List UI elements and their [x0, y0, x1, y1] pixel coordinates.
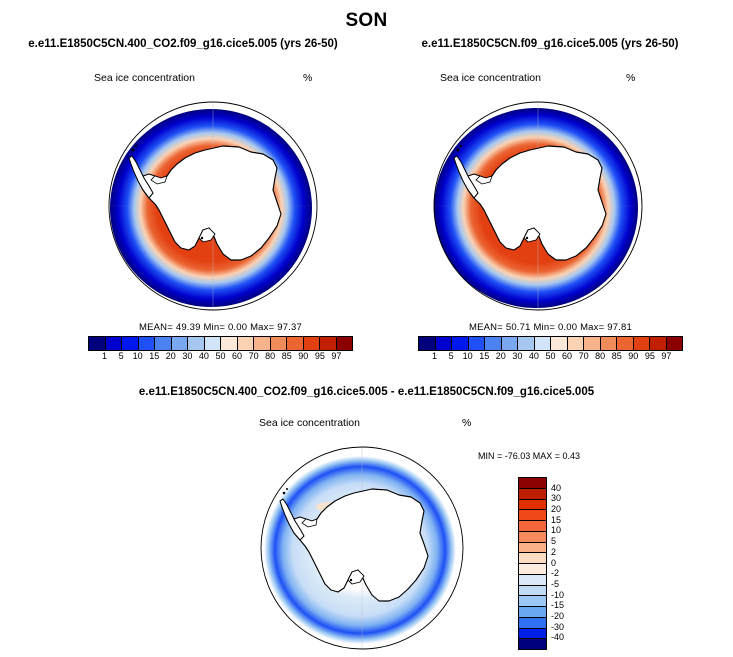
- diff-colorbar-swatch-2: [519, 500, 546, 511]
- colorbar-tick-label: 30: [182, 351, 192, 361]
- colorbar-swatch-2: [452, 337, 469, 350]
- panel-right-variable-label: Sea ice concentration: [440, 72, 541, 84]
- page-title: SON: [0, 10, 733, 32]
- colorbar-difference-swatches: [518, 477, 547, 650]
- colorbar-tick-label: 40: [199, 351, 209, 361]
- diff-colorbar-tick-label: -10: [551, 590, 564, 600]
- panel-difference-units: %: [462, 417, 471, 429]
- diff-colorbar-swatch-8: [519, 564, 546, 575]
- colorbar-right-ticks: 1510152030405060708085909597: [418, 351, 683, 365]
- colorbar-swatch-0: [89, 337, 106, 350]
- colorbar-tick-label: 15: [149, 351, 159, 361]
- colorbar-swatch-12: [617, 337, 634, 350]
- colorbar-swatch-9: [568, 337, 585, 350]
- panel-left-subtitle: e.e11.E1850C5CN.400_CO2.f09_g16.cice5.00…: [0, 38, 366, 50]
- colorbar-swatch-13: [304, 337, 321, 350]
- colorbar-tick-label: 40: [529, 351, 539, 361]
- colorbar-swatch-14: [650, 337, 667, 350]
- colorbar-left[interactable]: 1510152030405060708085909597: [88, 336, 353, 365]
- panel-right: e.e11.E1850C5CN.f09_g16.cice5.005 (yrs 2…: [367, 38, 733, 50]
- diff-colorbar-swatch-5: [519, 532, 546, 543]
- colorbar-swatch-7: [535, 337, 552, 350]
- map-left: [105, 98, 321, 314]
- panel-right-units: %: [626, 72, 635, 84]
- panel-difference: e.e11.E1850C5CN.400_CO2.f09_g16.cice5.00…: [0, 386, 733, 398]
- colorbar-tick-label: 90: [628, 351, 638, 361]
- diff-colorbar-swatch-0: [519, 478, 546, 489]
- colorbar-right-swatches: [418, 336, 683, 351]
- diff-colorbar-tick-label: 40: [551, 483, 561, 493]
- colorbar-tick-label: 50: [215, 351, 225, 361]
- colorbar-tick-label: 85: [282, 351, 292, 361]
- colorbar-tick-label: 70: [249, 351, 259, 361]
- colorbar-tick-label: 70: [579, 351, 589, 361]
- colorbar-swatch-5: [502, 337, 519, 350]
- colorbar-swatch-8: [551, 337, 568, 350]
- diff-colorbar-swatch-3: [519, 510, 546, 521]
- colorbar-swatch-15: [337, 337, 353, 350]
- colorbar-swatch-2: [122, 337, 139, 350]
- colorbar-swatch-4: [155, 337, 172, 350]
- diff-colorbar-swatch-1: [519, 489, 546, 500]
- colorbar-swatch-0: [419, 337, 436, 350]
- diff-colorbar-tick-label: -5: [551, 579, 559, 589]
- colorbar-swatch-12: [287, 337, 304, 350]
- colorbar-tick-label: 5: [449, 351, 454, 361]
- panel-right-stats: MEAN= 50.71 Min= 0.00 Max= 97.81: [418, 322, 683, 333]
- colorbar-tick-label: 15: [479, 351, 489, 361]
- diff-colorbar-swatch-12: [519, 607, 546, 618]
- colorbar-left-swatches: [88, 336, 353, 351]
- colorbar-tick-label: 20: [166, 351, 176, 361]
- panel-difference-stats: MIN = -76.03 MAX = 0.43: [478, 451, 580, 461]
- panel-left-units: %: [303, 72, 312, 84]
- colorbar-tick-label: 97: [331, 351, 341, 361]
- colorbar-swatch-11: [601, 337, 618, 350]
- diff-colorbar-swatch-9: [519, 575, 546, 586]
- colorbar-swatch-1: [436, 337, 453, 350]
- diff-colorbar-tick-label: 30: [551, 493, 561, 503]
- diff-colorbar-swatch-15: [519, 639, 546, 649]
- diff-colorbar-tick-label: 0: [551, 558, 556, 568]
- panel-left-stats: MEAN= 49.39 Min= 0.00 Max= 97.37: [88, 322, 353, 333]
- colorbar-tick-label: 10: [133, 351, 143, 361]
- diff-colorbar-tick-label: 10: [551, 525, 561, 535]
- colorbar-swatch-6: [188, 337, 205, 350]
- colorbar-tick-label: 10: [463, 351, 473, 361]
- colorbar-swatch-5: [172, 337, 189, 350]
- colorbar-tick-label: 1: [432, 351, 437, 361]
- colorbar-tick-label: 95: [315, 351, 325, 361]
- diff-colorbar-tick-label: 20: [551, 504, 561, 514]
- colorbar-swatch-7: [205, 337, 222, 350]
- diff-colorbar-tick-label: -30: [551, 622, 564, 632]
- colorbar-difference[interactable]: 4030201510520-2-5-10-15-20-30-40: [518, 477, 547, 648]
- panel-difference-subtitle: e.e11.E1850C5CN.400_CO2.f09_g16.cice5.00…: [0, 386, 733, 398]
- colorbar-tick-label: 30: [512, 351, 522, 361]
- colorbar-swatch-1: [106, 337, 123, 350]
- diff-colorbar-tick-label: 15: [551, 515, 561, 525]
- diff-colorbar-tick-label: -15: [551, 600, 564, 610]
- diff-colorbar-swatch-10: [519, 586, 546, 597]
- diff-colorbar-tick-label: 5: [551, 536, 556, 546]
- colorbar-tick-label: 60: [562, 351, 572, 361]
- panel-left: e.e11.E1850C5CN.400_CO2.f09_g16.cice5.00…: [0, 38, 366, 50]
- colorbar-tick-label: 60: [232, 351, 242, 361]
- diff-colorbar-tick-label: 2: [551, 547, 556, 557]
- diff-colorbar-swatch-14: [519, 629, 546, 640]
- colorbar-swatch-8: [221, 337, 238, 350]
- colorbar-swatch-14: [320, 337, 337, 350]
- colorbar-swatch-10: [584, 337, 601, 350]
- panel-difference-variable-label: Sea ice concentration: [259, 417, 360, 429]
- colorbar-difference-ticks: 4030201510520-2-5-10-15-20-30-40: [551, 477, 585, 648]
- diff-colorbar-tick-label: -20: [551, 611, 564, 621]
- colorbar-swatch-3: [469, 337, 486, 350]
- colorbar-tick-label: 80: [595, 351, 605, 361]
- colorbar-tick-label: 1: [102, 351, 107, 361]
- colorbar-swatch-4: [485, 337, 502, 350]
- diff-colorbar-tick-label: -40: [551, 632, 564, 642]
- colorbar-tick-label: 80: [265, 351, 275, 361]
- diff-colorbar-swatch-7: [519, 553, 546, 564]
- colorbar-swatch-10: [254, 337, 271, 350]
- colorbar-swatch-13: [634, 337, 651, 350]
- panel-left-variable-label: Sea ice concentration: [94, 72, 195, 84]
- colorbar-right[interactable]: 1510152030405060708085909597: [418, 336, 683, 365]
- map-difference: [257, 443, 467, 653]
- colorbar-tick-label: 90: [298, 351, 308, 361]
- diff-colorbar-swatch-4: [519, 521, 546, 532]
- colorbar-swatch-11: [271, 337, 288, 350]
- panel-right-subtitle: e.e11.E1850C5CN.f09_g16.cice5.005 (yrs 2…: [367, 38, 733, 50]
- colorbar-swatch-3: [139, 337, 156, 350]
- colorbar-tick-label: 85: [612, 351, 622, 361]
- colorbar-tick-label: 50: [545, 351, 555, 361]
- diff-colorbar-swatch-6: [519, 543, 546, 554]
- colorbar-tick-label: 95: [645, 351, 655, 361]
- colorbar-swatch-15: [667, 337, 683, 350]
- diff-colorbar-swatch-11: [519, 596, 546, 607]
- colorbar-tick-label: 5: [119, 351, 124, 361]
- diff-colorbar-tick-label: -2: [551, 568, 559, 578]
- colorbar-swatch-9: [238, 337, 255, 350]
- colorbar-swatch-6: [518, 337, 535, 350]
- colorbar-left-ticks: 1510152030405060708085909597: [88, 351, 353, 365]
- colorbar-tick-label: 97: [661, 351, 671, 361]
- colorbar-tick-label: 20: [496, 351, 506, 361]
- diff-colorbar-swatch-13: [519, 618, 546, 629]
- map-right: [430, 98, 646, 314]
